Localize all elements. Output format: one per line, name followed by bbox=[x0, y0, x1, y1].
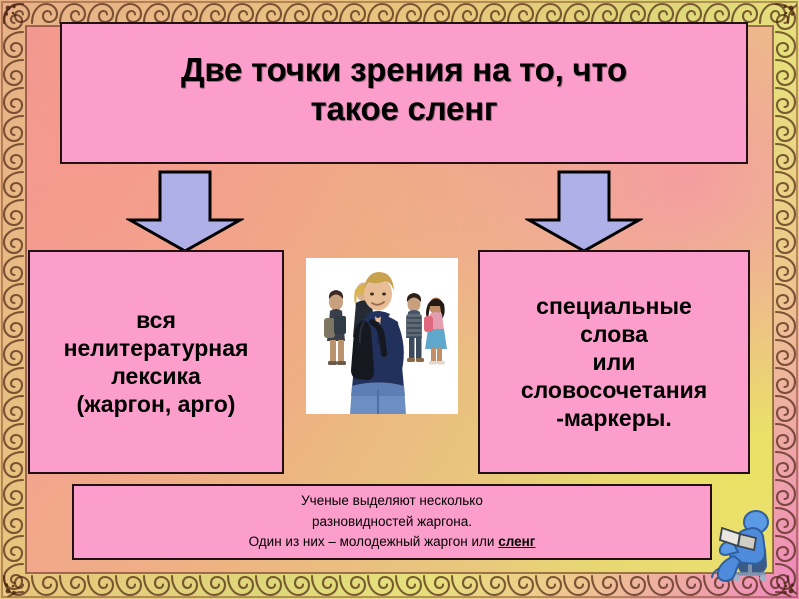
title-box: Две точки зрения на то, что такое сленг bbox=[60, 22, 748, 164]
right-line-2: слова bbox=[580, 321, 648, 347]
title-line-2: такое сленг bbox=[310, 90, 497, 127]
right-definition-text: специальные слова или словосочетания -ма… bbox=[521, 292, 707, 432]
frame-corner-ornament-top-right bbox=[775, 2, 797, 24]
right-line-3: или bbox=[593, 349, 636, 375]
caption-highlight-sleng: сленг bbox=[498, 534, 535, 549]
left-line-2: нелитературная bbox=[64, 335, 249, 361]
down-arrow-icon-left bbox=[126, 170, 244, 254]
left-definition-box: вся нелитературная лексика (жаргон, арго… bbox=[28, 250, 284, 474]
left-line-4: (жаргон, арго) bbox=[77, 391, 236, 417]
right-definition-box: специальные слова или словосочетания -ма… bbox=[478, 250, 750, 474]
left-definition-text: вся нелитературная лексика (жаргон, арго… bbox=[64, 306, 249, 418]
left-line-3: лексика bbox=[111, 363, 201, 389]
caption-box: Ученые выделяют несколько разновидностей… bbox=[72, 484, 712, 560]
frame-scroll-bottom bbox=[2, 574, 797, 597]
frame-scroll-left bbox=[2, 2, 25, 597]
down-arrow-icon-right bbox=[525, 170, 643, 254]
right-line-4: словосочетания bbox=[521, 377, 707, 403]
left-line-1: вся bbox=[136, 307, 176, 333]
students-photo bbox=[306, 258, 458, 414]
reading-person-icon bbox=[706, 506, 790, 584]
caption-line-3-prefix: Один из них – молодежный жаргон или bbox=[249, 534, 499, 549]
page-title: Две точки зрения на то, что такое сленг bbox=[181, 51, 627, 129]
title-line-1: Две точки зрения на то, что bbox=[181, 51, 627, 88]
frame-corner-ornament-top-left bbox=[2, 2, 24, 24]
caption-line-2: разновидностей жаргона. bbox=[312, 514, 472, 529]
right-line-5: -маркеры. bbox=[556, 405, 672, 431]
caption-line-1: Ученые выделяют несколько bbox=[301, 493, 483, 508]
caption-text: Ученые выделяют несколько разновидностей… bbox=[249, 491, 536, 554]
slide-canvas: Две точки зрения на то, что такое сленг … bbox=[0, 0, 799, 599]
right-line-1: специальные bbox=[536, 293, 692, 319]
frame-corner-ornament-bottom-left bbox=[2, 575, 24, 597]
